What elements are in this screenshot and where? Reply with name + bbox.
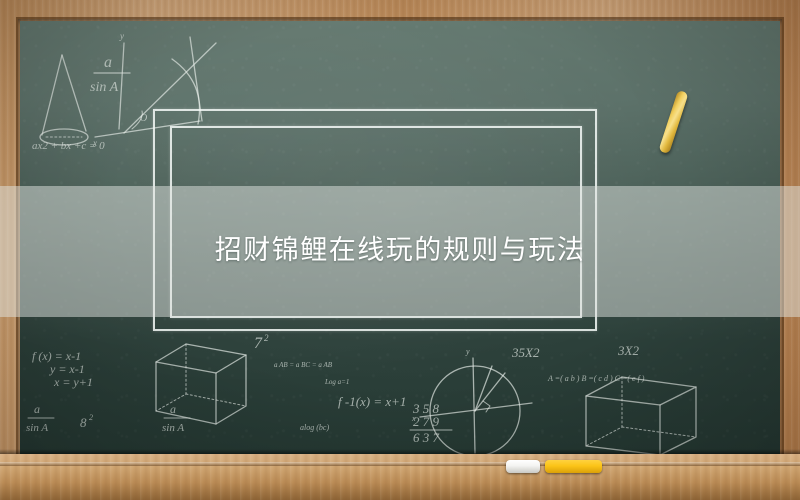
- svg-text:sin A: sin A: [162, 422, 184, 434]
- svg-text:x = y+1: x = y+1: [53, 375, 93, 389]
- column-addition: 3 5 8 2 7 9 6 3 7: [410, 401, 452, 445]
- svg-text:2: 2: [264, 333, 269, 343]
- eight-squared: 8 2: [80, 413, 93, 430]
- svg-text:x: x: [92, 138, 97, 148]
- cone-diagram: [40, 55, 88, 145]
- chalk-stick-white-icon: [506, 460, 540, 473]
- chalk-ledge-lip: [0, 462, 800, 466]
- svg-text:a: a: [170, 402, 176, 416]
- svg-text:a: a: [34, 402, 40, 416]
- title-overlay-band: 招财锦鲤在线玩的规则与玩法: [0, 186, 800, 317]
- law-of-sines-top-left: a sin A: [90, 54, 130, 95]
- cube-diagram-right: [586, 377, 696, 455]
- svg-text:x: x: [411, 414, 416, 423]
- svg-text:y = x-1: y = x-1: [49, 362, 85, 376]
- matrix-label-3x2: 3X2: [617, 343, 639, 358]
- alog-bc-expression: alog (bc): [300, 423, 329, 432]
- circle-diagram: y x: [411, 347, 532, 455]
- svg-text:2 7 9: 2 7 9: [413, 414, 440, 429]
- matrix-label-35x2: 35X2: [511, 345, 540, 360]
- small-log-expression: a AB = a BC = a AB: [274, 361, 333, 369]
- inverse-function: f -1(x) = x+1: [338, 394, 406, 409]
- quadratic-equation: ax2 + bx +c = 0: [32, 140, 105, 152]
- svg-text:sin A: sin A: [26, 422, 48, 434]
- svg-text:8: 8: [80, 415, 87, 430]
- svg-text:3 5 8: 3 5 8: [412, 401, 440, 416]
- chalk-stick-yellow-icon: [545, 460, 602, 473]
- svg-text:sin A: sin A: [90, 80, 119, 95]
- svg-text:6 3 7: 6 3 7: [413, 430, 440, 445]
- svg-text:y: y: [119, 31, 124, 41]
- law-of-sines-bottom-left: a sin A: [26, 402, 54, 434]
- svg-text:7: 7: [254, 335, 263, 352]
- svg-text:2: 2: [89, 413, 93, 422]
- log-a-expression: Log a=1: [324, 378, 349, 386]
- chalk-ledge: [0, 454, 800, 500]
- svg-text:f (x) = x-1: f (x) = x-1: [32, 349, 81, 363]
- svg-text:a: a: [104, 54, 112, 71]
- seven-squared: 7 2: [254, 333, 269, 352]
- law-of-sines-bottom-center: a sin A: [162, 402, 190, 434]
- function-equations: f (x) = x-1 y = x-1 x = y+1: [32, 349, 93, 389]
- svg-text:O: O: [140, 113, 147, 124]
- page-title: 招财锦鲤在线玩的规则与玩法: [215, 235, 586, 267]
- matrix-notation-row: A =( a b ) B =( c d ) C =( e f ): [547, 374, 645, 383]
- cube-diagram-left: [156, 344, 246, 424]
- chalkboard-banner-image: a sin A ax2 + bx +c = 0 y x O: [0, 0, 800, 500]
- svg-text:y: y: [465, 347, 470, 356]
